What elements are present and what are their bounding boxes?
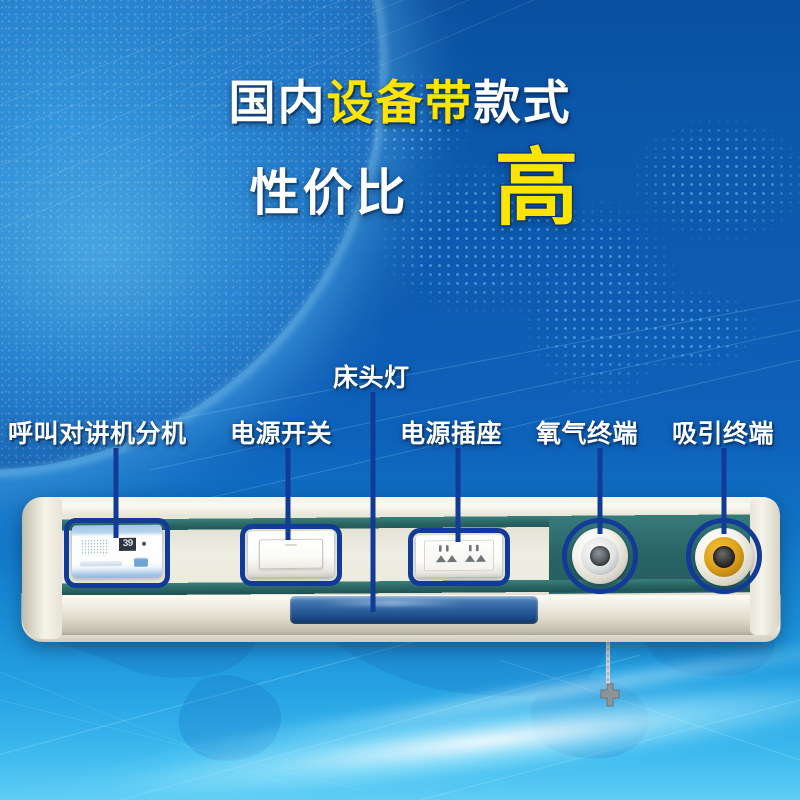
callout-label-suction: 吸引终端	[672, 414, 774, 450]
callout-label-bedside-lamp: 床头灯	[333, 358, 410, 394]
headline-line-2-row: 性价比 高	[0, 149, 800, 229]
product-banner-poster: 国内设备带款式 性价比 高 呼叫对讲机分机 电源开关 床头灯 电源插座 氧气终端…	[0, 0, 800, 800]
headline-seg-1: 国内	[229, 76, 327, 129]
callout-label-intercom: 呼叫对讲机分机	[8, 414, 187, 450]
callout-label-oxygen: 氧气终端	[536, 414, 638, 450]
callout-label-power-switch: 电源开关	[230, 414, 332, 450]
headline-seg-3: 款式	[474, 76, 572, 129]
headline-emphasis-character: 高	[494, 149, 578, 229]
headline-line-2: 性价比	[249, 153, 408, 225]
callout-label-power-socket: 电源插座	[400, 414, 502, 450]
headline-seg-2-accent: 设备带	[327, 76, 474, 129]
headline-line-1: 国内设备带款式	[0, 78, 800, 127]
headline-block: 国内设备带款式 性价比 高	[0, 78, 800, 229]
